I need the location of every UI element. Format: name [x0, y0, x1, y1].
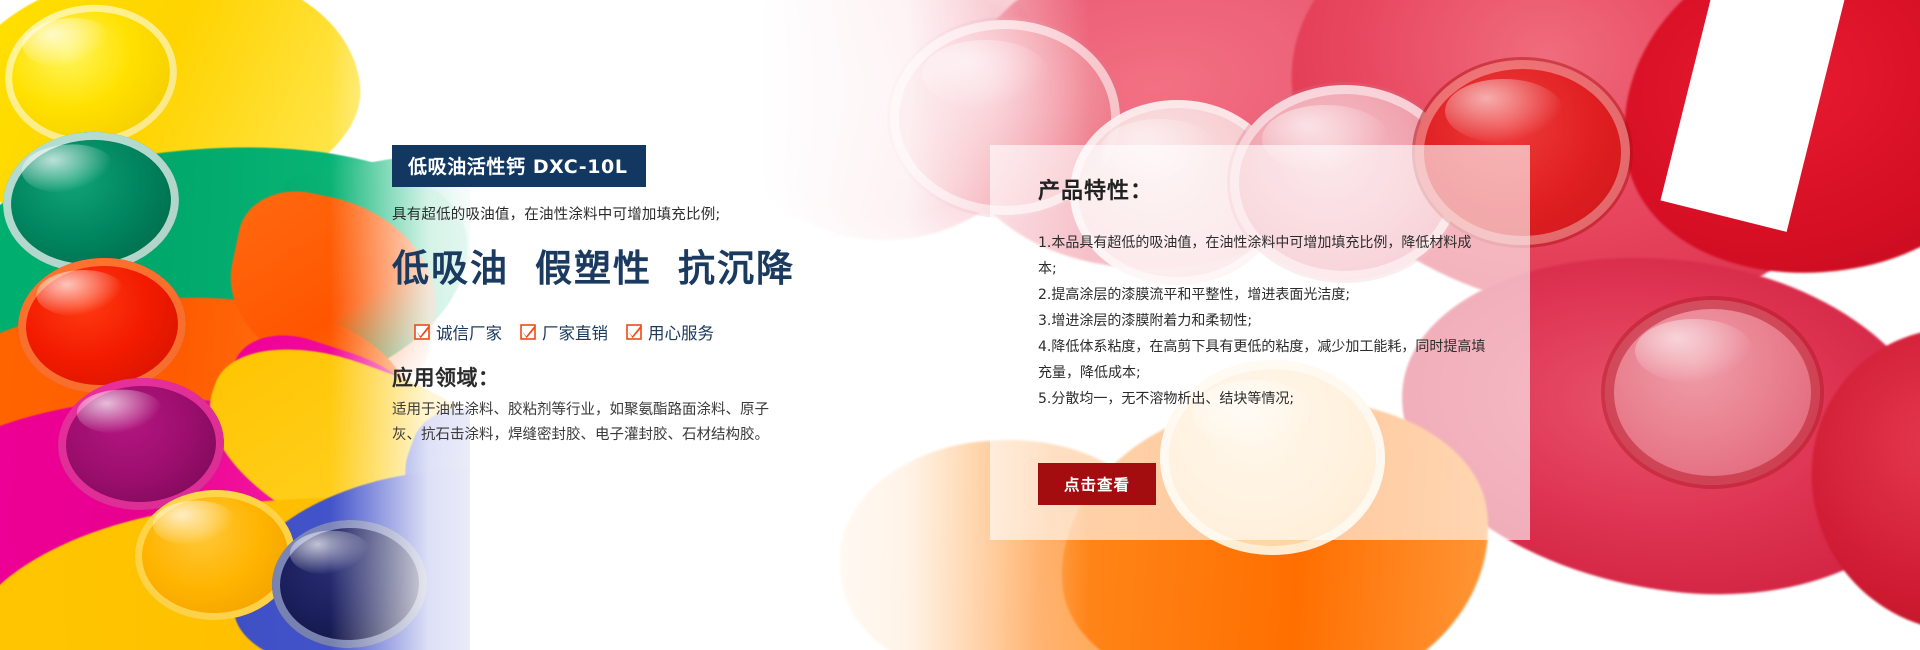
list-item: 3.增进涂层的漆膜附着力和柔韧性;: [1038, 308, 1488, 334]
feature-badge: 用心服务: [626, 320, 714, 344]
feature-badges: 诚信厂家 厂家直销 用心服务: [414, 320, 714, 344]
feature-label: 诚信厂家: [436, 320, 502, 344]
product-subline: 具有超低的吸油值，在油性涂料中可增加填充比例;: [392, 203, 872, 224]
product-headline: 低吸油假塑性抗沉降: [392, 238, 872, 292]
applications-title: 应用领域：: [392, 362, 500, 392]
list-item: 5.分散均一，无不溶物析出、结块等情况;: [1038, 386, 1488, 412]
promo-banner: 低吸油活性钙 DXC-10L 具有超低的吸油值，在油性涂料中可增加填充比例; 低…: [0, 0, 1920, 650]
feature-label: 用心服务: [648, 320, 714, 344]
product-features-panel: 产品特性： 1.本品具有超低的吸油值，在油性涂料中可增加填充比例，降低材料成本;…: [990, 145, 1530, 540]
product-title-chip: 低吸油活性钙 DXC-10L: [392, 145, 646, 187]
list-item: 1.本品具有超低的吸油值，在油性涂料中可增加填充比例，降低材料成本;: [1038, 230, 1488, 282]
applications-body: 适用于油性涂料、胶粘剂等行业，如聚氨酯路面涂料、原子灰、抗石击涂料，焊缝密封胶、…: [392, 398, 787, 448]
panel-title: 产品特性：: [1038, 173, 1153, 205]
headline-word-3: 抗沉降: [678, 246, 795, 290]
check-box-icon: [520, 324, 536, 340]
check-box-icon: [414, 324, 430, 340]
list-item: 4.降低体系粘度，在高剪下具有更低的粘度，减少加工能耗，同时提高填充量，降低成本…: [1038, 334, 1488, 386]
feature-badge: 厂家直销: [520, 320, 608, 344]
list-item: 2.提高涂层的漆膜流平和平整性，增进表面光洁度;: [1038, 282, 1488, 308]
headline-word-2: 假塑性: [535, 246, 652, 290]
promo-copy: 低吸油活性钙 DXC-10L 具有超低的吸油值，在油性涂料中可增加填充比例; 低…: [392, 0, 862, 650]
view-details-button[interactable]: 点击查看: [1038, 463, 1156, 505]
check-box-icon: [626, 324, 642, 340]
paint-cup-rose: [1605, 300, 1820, 485]
headline-word-1: 低吸油: [392, 246, 509, 290]
feature-label: 厂家直销: [542, 320, 608, 344]
panel-feature-list: 1.本品具有超低的吸油值，在油性涂料中可增加填充比例，降低材料成本; 2.提高涂…: [1038, 230, 1488, 412]
feature-badge: 诚信厂家: [414, 320, 502, 344]
